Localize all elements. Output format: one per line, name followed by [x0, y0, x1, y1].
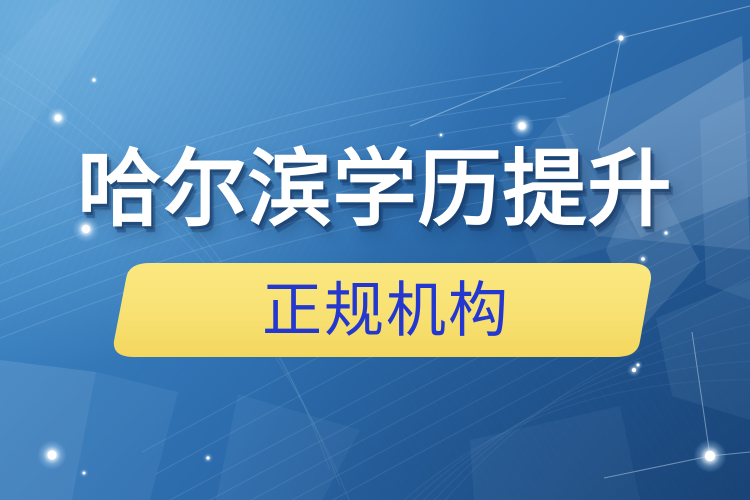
ribbon-label-container: 正规机构 — [112, 276, 652, 346]
promo-banner: 哈尔滨学历提升 正规机构 — [0, 0, 750, 500]
ribbon-label-text: 正规机构 — [262, 277, 510, 345]
headline-text: 哈尔滨学历提升 — [77, 143, 672, 235]
headline-container: 哈尔滨学历提升 — [0, 143, 750, 235]
background-vignette — [0, 0, 750, 500]
